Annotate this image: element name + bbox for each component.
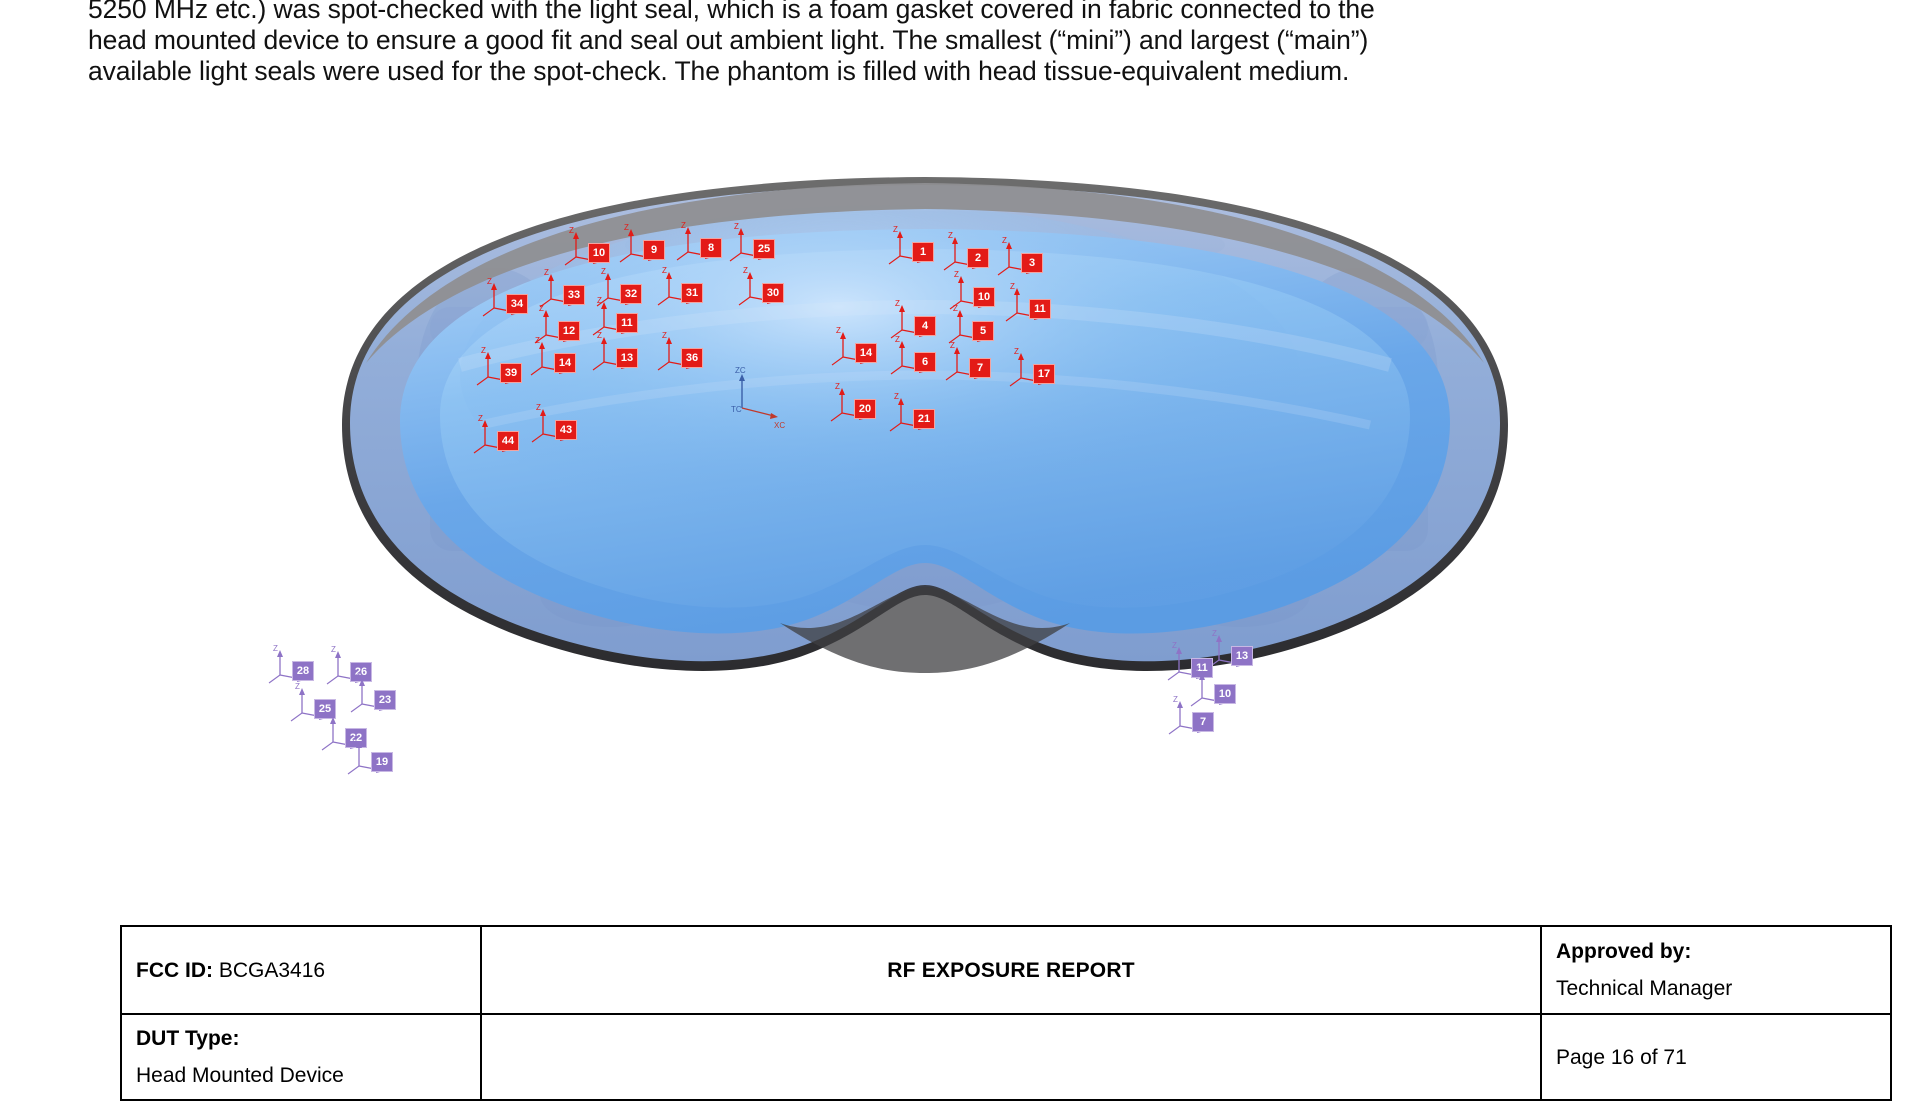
probe-marker-14[interactable]: 14 (554, 353, 576, 373)
footer-cell-blank (481, 1014, 1541, 1100)
probe-marker-10[interactable]: 10 (973, 287, 995, 307)
approved-by-label: Approved by: (1556, 938, 1876, 965)
probe-marker-1[interactable]: 1 (912, 242, 934, 262)
figure-area: ZC TC XC Z10Z9Z8Z25Z1Z2Z3Z34Z33Z32Z31Z30… (0, 100, 1920, 720)
footer-cell-fcc-id: FCC ID: BCGA3416 (121, 926, 481, 1014)
probe-marker-28[interactable]: 28 (292, 661, 314, 681)
probe-marker-8[interactable]: 8 (700, 238, 722, 258)
footer-cell-dut-type: DUT Type: Head Mounted Device (121, 1014, 481, 1100)
footer-row-dut: DUT Type: Head Mounted Device Page 16 of… (121, 1014, 1891, 1100)
report-footer-table: FCC ID: BCGA3416 RF EXPOSURE REPORT Appr… (120, 925, 1892, 1101)
footer-cell-approved-by: Approved by: Technical Manager (1541, 926, 1891, 1014)
footer-cell-report-title: RF EXPOSURE REPORT (481, 926, 1541, 1014)
probe-marker-14[interactable]: 14 (855, 343, 877, 363)
probe-marker-33[interactable]: 33 (563, 285, 585, 305)
probe-marker-34[interactable]: 34 (506, 294, 528, 314)
fcc-id-label: FCC ID: (136, 959, 213, 982)
paragraph-line-2: head mounted device to ensure a good fit… (88, 25, 1788, 56)
probe-marker-30[interactable]: 30 (762, 283, 784, 303)
fcc-id-value: BCGA3416 (219, 959, 325, 982)
intro-paragraph: 5250 MHz etc.) was spot-checked with the… (88, 0, 1788, 87)
probe-marker-22[interactable]: 22 (345, 728, 367, 748)
probe-marker-19[interactable]: 19 (371, 752, 393, 772)
dut-type-label: DUT Type: (136, 1025, 466, 1052)
svg-text:Z: Z (273, 645, 278, 653)
probe-marker-26[interactable]: 26 (350, 662, 372, 682)
paragraph-line-1: 5250 MHz etc.) was spot-checked with the… (88, 0, 1788, 25)
probe-marker-2[interactable]: 2 (967, 248, 989, 268)
probe-marker-4[interactable]: 4 (914, 316, 936, 336)
probe-marker-5[interactable]: 5 (972, 321, 994, 341)
probe-marker-10[interactable]: 10 (588, 243, 610, 263)
probe-marker-39[interactable]: 39 (500, 363, 522, 383)
paragraph-line-3: available light seals were used for the … (88, 56, 1788, 87)
footer-cell-page-number: Page 16 of 71 (1541, 1014, 1891, 1100)
probe-marker-20[interactable]: 20 (854, 399, 876, 419)
probe-marker-25[interactable]: 25 (753, 239, 775, 259)
approved-by-value: Technical Manager (1556, 975, 1876, 1002)
dut-type-value: Head Mounted Device (136, 1062, 466, 1089)
probe-marker-43[interactable]: 43 (555, 420, 577, 440)
probe-marker-13[interactable]: 13 (616, 348, 638, 368)
probe-marker-7[interactable]: 7 (969, 358, 991, 378)
probe-marker-25[interactable]: 25 (314, 699, 336, 719)
probe-marker-11[interactable]: 11 (1029, 299, 1051, 319)
probe-marker-11[interactable]: 11 (616, 313, 638, 333)
probe-marker-9[interactable]: 9 (643, 240, 665, 260)
probe-marker-21[interactable]: 21 (913, 409, 935, 429)
probe-marker-36[interactable]: 36 (681, 348, 703, 368)
footer-row-identification: FCC ID: BCGA3416 RF EXPOSURE REPORT Appr… (121, 926, 1891, 1014)
probe-marker-44[interactable]: 44 (497, 431, 519, 451)
probe-marker-6[interactable]: 6 (914, 352, 936, 372)
probe-marker-17[interactable]: 17 (1033, 364, 1055, 384)
probe-marker-10[interactable]: 10 (1214, 684, 1236, 704)
probe-marker-13[interactable]: 13 (1231, 646, 1253, 666)
probe-marker-11[interactable]: 11 (1191, 658, 1213, 678)
probe-marker-7[interactable]: 7 (1192, 712, 1214, 732)
probe-marker-3[interactable]: 3 (1021, 253, 1043, 273)
probe-marker-23[interactable]: 23 (374, 690, 396, 710)
probe-marker-31[interactable]: 31 (681, 283, 703, 303)
probe-marker-12[interactable]: 12 (558, 321, 580, 341)
probe-marker-32[interactable]: 32 (620, 284, 642, 304)
